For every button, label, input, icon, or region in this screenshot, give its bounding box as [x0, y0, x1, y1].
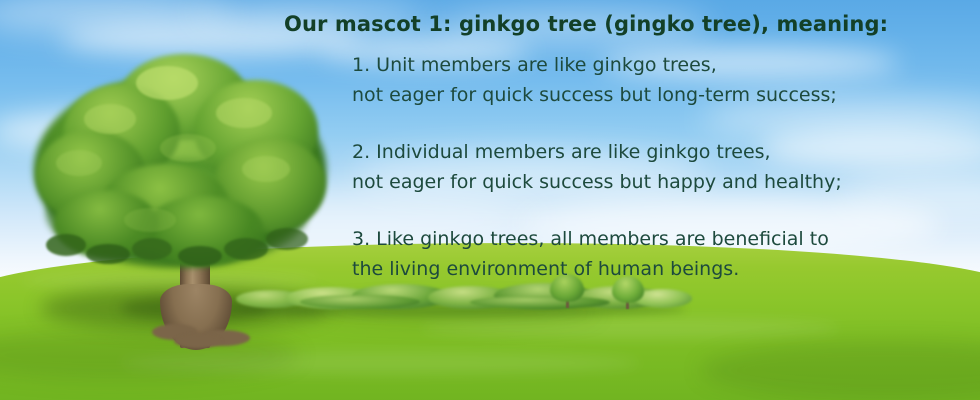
- ginkgo-tree-illustration: [28, 38, 328, 313]
- tree-foliage-highlight: [216, 98, 272, 128]
- tree-foliage-edge: [224, 238, 268, 260]
- mascot-meaning-item-3-line-1: 3. Like ginkgo trees, all members are be…: [352, 224, 829, 254]
- tree-foliage-highlight: [242, 156, 290, 182]
- hedge-bush: [470, 296, 610, 309]
- tree-foliage-edge: [178, 246, 222, 266]
- mascot-meaning-item-2: 2. Individual members are like ginkgo tr…: [352, 137, 842, 197]
- mascot-meaning-item-1-line-2: not eager for quick success but long-ter…: [352, 80, 837, 110]
- tree-foliage-edge: [132, 238, 172, 260]
- tree-foliage-edge: [266, 228, 308, 250]
- tree-foliage-highlight: [136, 66, 198, 100]
- mascot-meaning-item-2-line-1: 2. Individual members are like ginkgo tr…: [352, 137, 842, 167]
- page-title: Our mascot 1: ginkgo tree (gingko tree),…: [284, 12, 888, 36]
- mascot-meaning-item-1-line-1: 1. Unit members are like ginkgo trees,: [352, 50, 837, 80]
- tree-foliage-highlight: [160, 134, 216, 162]
- tree-foliage-edge: [86, 244, 130, 264]
- tree-foliage-highlight: [56, 150, 102, 176]
- mascot-meaning-item-1: 1. Unit members are like ginkgo trees, n…: [352, 50, 837, 110]
- mascot-meaning-item-3: 3. Like ginkgo trees, all members are be…: [352, 224, 829, 284]
- mascot-meaning-item-2-line-2: not eager for quick success but happy an…: [352, 167, 842, 197]
- tree-foliage-highlight: [84, 104, 136, 134]
- tree-root: [174, 334, 222, 348]
- tree-foliage-edge: [46, 234, 86, 256]
- tree-foliage-highlight: [124, 208, 176, 232]
- mascot-meaning-item-3-line-2: the living environment of human beings.: [352, 254, 829, 284]
- mascot-banner: Our mascot 1: ginkgo tree (gingko tree),…: [0, 0, 980, 400]
